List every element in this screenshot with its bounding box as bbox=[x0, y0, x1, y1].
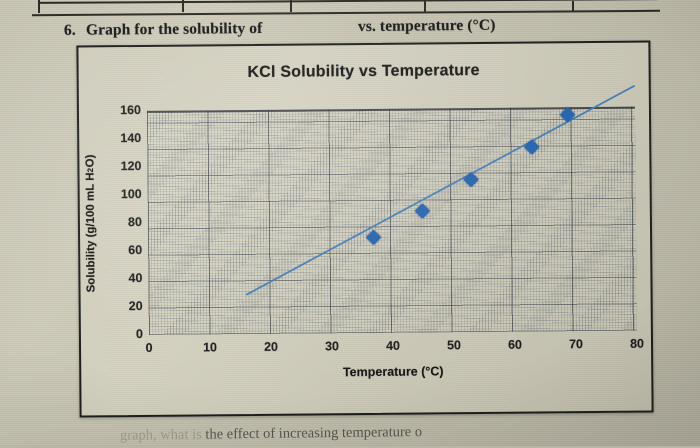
table-divider bbox=[290, 0, 292, 12]
chart-title: KCl Solubility vs Temperature bbox=[79, 61, 649, 84]
y-axis-tick-label: 0 bbox=[89, 327, 143, 341]
x-axis-tick-label: 80 bbox=[617, 336, 654, 350]
x-axis-label: Temperature (°C) bbox=[149, 363, 637, 381]
table-divider bbox=[424, 1, 426, 13]
y-axis-tick-label: 40 bbox=[88, 271, 142, 285]
bottom-text-visible: the effect of increasing temperature o bbox=[205, 424, 422, 443]
x-axis-tick-label: 60 bbox=[495, 338, 535, 352]
x-axis-tick-label: 0 bbox=[129, 341, 169, 355]
x-axis-tick-label: 30 bbox=[312, 339, 352, 353]
bottom-question-text: graph, what is the effect of increasing … bbox=[120, 420, 700, 447]
table-border-top bbox=[38, 0, 658, 4]
question-text-before-blank: Graph for the solubility of bbox=[86, 20, 263, 40]
trendline bbox=[147, 107, 637, 335]
y-axis-tick-label: 120 bbox=[87, 159, 141, 173]
chart-container: KCl Solubility vs Temperature Solubility… bbox=[76, 41, 653, 418]
x-axis-tick-label: 40 bbox=[373, 339, 413, 353]
y-axis-tick-label: 60 bbox=[88, 243, 142, 257]
y-axis-tick-label: 160 bbox=[87, 103, 141, 117]
x-axis-tick-label: 70 bbox=[556, 337, 596, 351]
table-divider bbox=[182, 0, 184, 12]
table-divider bbox=[38, 0, 40, 13]
y-axis-tick-label: 20 bbox=[89, 299, 143, 313]
plot-area bbox=[147, 107, 637, 335]
worksheet-page: 6. Graph for the solubility of vs. tempe… bbox=[0, 0, 700, 446]
y-axis-tick-label: 80 bbox=[88, 215, 142, 229]
question-text-after-blank: vs. temperature (°C) bbox=[358, 17, 496, 36]
bottom-text-faded: graph, what is bbox=[120, 427, 202, 444]
y-axis-tick-label: 140 bbox=[87, 131, 141, 145]
table-border-bottom bbox=[32, 10, 660, 16]
question-number: 6. bbox=[64, 22, 76, 40]
y-axis-tick-label: 100 bbox=[88, 187, 142, 201]
x-axis-tick-label: 50 bbox=[434, 338, 474, 352]
x-axis-tick-label: 20 bbox=[251, 340, 291, 354]
table-divider bbox=[572, 1, 574, 12]
x-axis-tick-label: 10 bbox=[190, 340, 230, 354]
